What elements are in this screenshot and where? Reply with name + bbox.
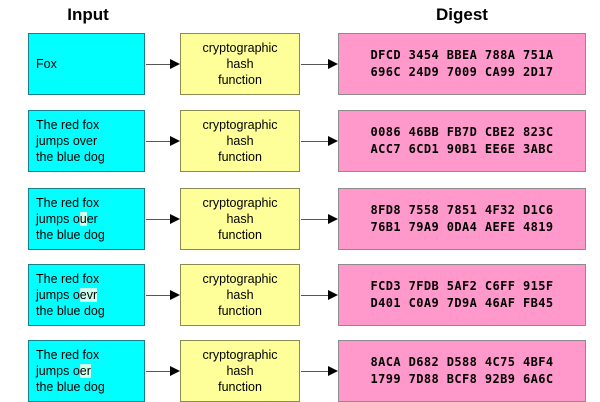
hash-function-label-line: hash	[226, 56, 253, 72]
input-text-segment: The red fox	[36, 196, 99, 210]
input-message-box[interactable]: The red foxjumps ouerthe blue dog	[28, 188, 145, 250]
diagram-row: FoxcryptographichashfunctionDFCD 3454 BB…	[0, 33, 600, 95]
digest-hash-box[interactable]: 8FD8 7558 7851 4F32 D1C676B1 79A9 0DA4 A…	[338, 188, 586, 250]
cryptographic-hash-function-box[interactable]: cryptographichashfunction	[180, 33, 300, 95]
digest-hash-line: 0086 46BB FB7D CBE2 823C	[371, 124, 554, 141]
hash-function-label-line: cryptographic	[202, 271, 277, 287]
input-message-line: Fox	[36, 56, 141, 72]
input-message-line: the blue dog	[36, 303, 141, 319]
input-message-line: the blue dog	[36, 149, 141, 165]
column-header-input: Input	[28, 5, 148, 25]
hash-function-label-line: function	[218, 303, 262, 319]
diagram-row: The red foxjumps ouerthe blue dogcryptog…	[0, 188, 600, 250]
input-text-segment: the blue dog	[36, 150, 105, 164]
input-text-segment: jumps o	[36, 212, 80, 226]
input-message-line: jumps oer	[36, 363, 141, 379]
diagram-row: The red foxjumps oer the blue dogcryptog…	[0, 340, 600, 402]
input-text-segment: the blue dog	[36, 228, 105, 242]
hash-function-label-line: function	[218, 379, 262, 395]
input-message-box[interactable]: The red foxjumps oer the blue dog	[28, 340, 145, 402]
hash-function-label-line: hash	[226, 133, 253, 149]
input-text-segment: The red fox	[36, 118, 99, 132]
input-text-segment: jumps over	[36, 134, 97, 148]
input-text-segment: the blue dog	[36, 380, 105, 394]
arrow-hash-to-digest-icon	[301, 136, 338, 147]
input-text-segment: Fox	[36, 57, 57, 71]
arrow-input-to-hash-icon	[146, 59, 180, 70]
input-message-line: the blue dog	[36, 227, 141, 243]
arrow-hash-to-digest-icon	[301, 290, 338, 301]
hash-function-label-line: cryptographic	[202, 40, 277, 56]
input-message-line: The red fox	[36, 347, 141, 363]
arrow-input-to-hash-icon	[146, 366, 180, 377]
arrow-hash-to-digest-icon	[301, 366, 338, 377]
hash-function-label-line: cryptographic	[202, 117, 277, 133]
input-message-line: The red fox	[36, 195, 141, 211]
hash-function-label-line: function	[218, 72, 262, 88]
digest-hash-line: FCD3 7FDB 5AF2 C6FF 915F	[371, 278, 554, 295]
hash-function-label-line: function	[218, 227, 262, 243]
hash-function-diagram: Input Digest Foxcryptographichashfunctio…	[0, 0, 600, 400]
cryptographic-hash-function-box[interactable]: cryptographichashfunction	[180, 188, 300, 250]
digest-hash-line: 1799 7D88 BCF8 92B9 6A6C	[371, 371, 554, 388]
digest-hash-line: D401 C0A9 7D9A 46AF FB45	[371, 295, 554, 312]
digest-hash-line: 696C 24D9 7009 CA99 2D17	[371, 64, 554, 81]
input-message-line: the blue dog	[36, 379, 141, 395]
diagram-row: The red foxjumps overthe blue dogcryptog…	[0, 110, 600, 172]
input-message-box[interactable]: The red foxjumps oevr the blue dog	[28, 264, 145, 326]
input-text-segment: jumps o	[36, 288, 80, 302]
column-header-digest: Digest	[338, 5, 586, 25]
input-text-segment: the blue dog	[36, 304, 105, 318]
arrow-hash-to-digest-icon	[301, 214, 338, 225]
input-message-line: jumps oevr	[36, 287, 141, 303]
input-text-segment: er	[87, 212, 98, 226]
input-message-line: jumps over	[36, 133, 141, 149]
digest-hash-line: 8FD8 7558 7851 4F32 D1C6	[371, 202, 554, 219]
diagram-row: The red foxjumps oevr the blue dogcrypto…	[0, 264, 600, 326]
digest-hash-line: 76B1 79A9 0DA4 AEFE 4819	[371, 219, 554, 236]
input-message-box[interactable]: The red foxjumps overthe blue dog	[28, 110, 145, 172]
cryptographic-hash-function-box[interactable]: cryptographichashfunction	[180, 110, 300, 172]
input-message-line: The red fox	[36, 117, 141, 133]
edited-text-highlight: u	[80, 212, 87, 226]
hash-function-label-line: function	[218, 149, 262, 165]
digest-hash-box[interactable]: 8ACA D682 D588 4C75 4BF41799 7D88 BCF8 9…	[338, 340, 586, 402]
cryptographic-hash-function-box[interactable]: cryptographichashfunction	[180, 264, 300, 326]
hash-function-label-line: hash	[226, 363, 253, 379]
input-text-segment: jumps o	[36, 364, 80, 378]
digest-hash-line: DFCD 3454 BBEA 788A 751A	[371, 47, 554, 64]
arrow-input-to-hash-icon	[146, 136, 180, 147]
hash-function-label-line: hash	[226, 287, 253, 303]
hash-function-label-line: cryptographic	[202, 195, 277, 211]
arrow-input-to-hash-icon	[146, 290, 180, 301]
arrow-input-to-hash-icon	[146, 214, 180, 225]
arrow-hash-to-digest-icon	[301, 59, 338, 70]
input-message-box[interactable]: Fox	[28, 33, 145, 95]
input-message-line: The red fox	[36, 271, 141, 287]
input-text-segment: The red fox	[36, 272, 99, 286]
edited-text-highlight: er	[80, 364, 91, 378]
input-message-line: jumps ouer	[36, 211, 141, 227]
input-text-segment: The red fox	[36, 348, 99, 362]
hash-function-label-line: hash	[226, 211, 253, 227]
digest-hash-line: 8ACA D682 D588 4C75 4BF4	[371, 354, 554, 371]
cryptographic-hash-function-box[interactable]: cryptographichashfunction	[180, 340, 300, 402]
edited-text-highlight: evr	[80, 288, 97, 302]
digest-hash-box[interactable]: FCD3 7FDB 5AF2 C6FF 915FD401 C0A9 7D9A 4…	[338, 264, 586, 326]
digest-hash-box[interactable]: 0086 46BB FB7D CBE2 823CACC7 6CD1 90B1 E…	[338, 110, 586, 172]
digest-hash-line: ACC7 6CD1 90B1 EE6E 3ABC	[371, 141, 554, 158]
digest-hash-box[interactable]: DFCD 3454 BBEA 788A 751A696C 24D9 7009 C…	[338, 33, 586, 95]
hash-function-label-line: cryptographic	[202, 347, 277, 363]
